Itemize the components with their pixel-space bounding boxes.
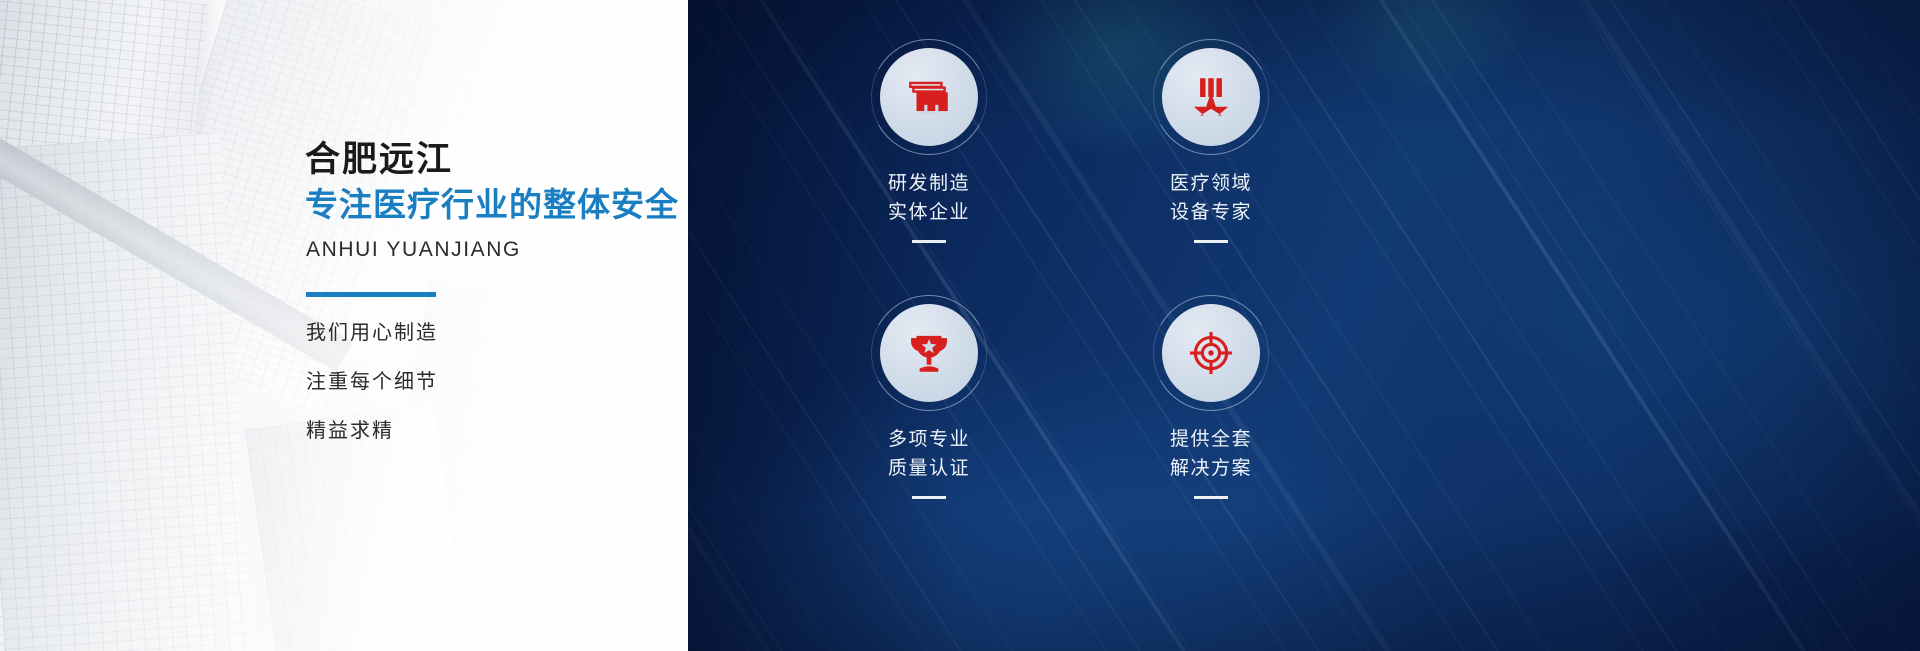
feature-item-rnd-manufacturing[interactable]: 研发制造 实体企业 (818, 48, 1040, 300)
feature-label-line1: 提供全套 (1170, 426, 1252, 455)
feature-item-medical-expert[interactable]: 医疗领域 设备专家 (1100, 48, 1322, 300)
feature-underline (912, 240, 946, 243)
icon-disc (880, 48, 978, 146)
feature-underline (912, 496, 946, 499)
feature-label-line2: 设备专家 (1170, 199, 1252, 228)
icon-container (880, 48, 978, 146)
company-slogan: 专注医疗行业的整体安全 (305, 186, 679, 224)
company-name-pinyin: ANHUI YUANJIANG (306, 238, 521, 262)
left-hero-panel: 合肥远江 专注医疗行业的整体安全 ANHUI YUANJIANG 我们用心制造 … (0, 0, 688, 651)
medal-icon (1186, 72, 1236, 122)
feature-underline (1194, 496, 1228, 499)
feature-item-total-solution[interactable]: 提供全套 解决方案 (1100, 304, 1322, 556)
feature-label-line1: 医疗领域 (1170, 170, 1252, 199)
company-name: 合肥远江 (305, 140, 453, 180)
feature-label-line2: 质量认证 (888, 455, 970, 484)
feature-label: 提供全套 解决方案 (1170, 426, 1252, 483)
icon-disc (880, 304, 978, 402)
tagline-list: 我们用心制造 注重每个细节 精益求精 (306, 320, 438, 467)
feature-label: 医疗领域 设备专家 (1170, 170, 1252, 227)
feature-label: 多项专业 质量认证 (888, 426, 970, 483)
icon-container (1162, 48, 1260, 146)
feature-underline (1194, 240, 1228, 243)
factory-icon (904, 72, 954, 122)
feature-grid: 研发制造 实体企业 (818, 48, 1388, 608)
left-text-block: 合肥远江 专注医疗行业的整体安全 ANHUI YUANJIANG 我们用心制造 … (305, 0, 675, 651)
feature-item-quality-certification[interactable]: 多项专业 质量认证 (818, 304, 1040, 556)
feature-label-line2: 实体企业 (888, 199, 970, 228)
icon-container (880, 304, 978, 402)
feature-label-line2: 解决方案 (1170, 455, 1252, 484)
trophy-icon (904, 328, 954, 378)
tagline-item: 注重每个细节 (306, 369, 438, 395)
icon-container (1162, 304, 1260, 402)
feature-label-line1: 研发制造 (888, 170, 970, 199)
right-features-panel: 研发制造 实体企业 (688, 0, 1920, 651)
icon-disc (1162, 48, 1260, 146)
icon-disc (1162, 304, 1260, 402)
target-icon (1186, 328, 1236, 378)
feature-label-line1: 多项专业 (888, 426, 970, 455)
tagline-item: 我们用心制造 (306, 320, 438, 346)
promo-banner: 合肥远江 专注医疗行业的整体安全 ANHUI YUANJIANG 我们用心制造 … (0, 0, 1920, 651)
feature-label: 研发制造 实体企业 (888, 170, 970, 227)
accent-divider (306, 292, 436, 297)
tagline-item: 精益求精 (306, 418, 438, 444)
